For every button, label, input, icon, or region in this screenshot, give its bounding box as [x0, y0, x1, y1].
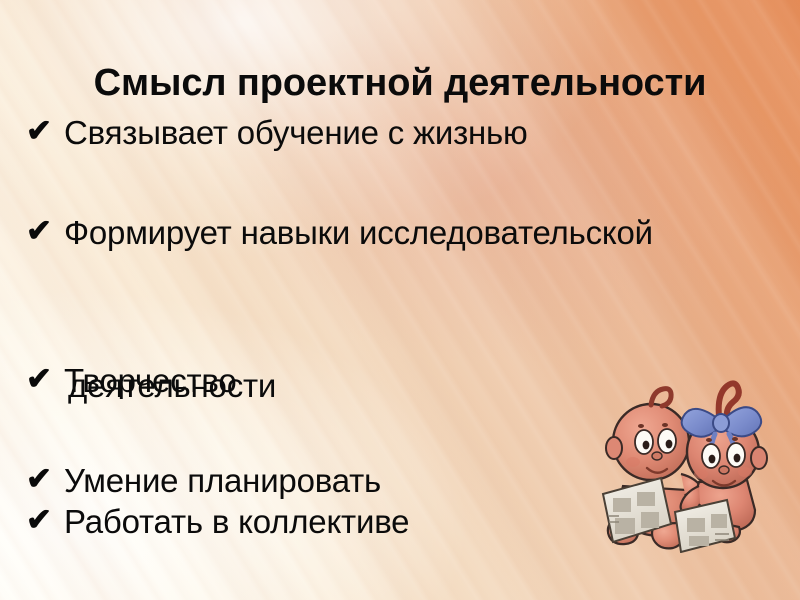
slide-title: Смысл проектной деятельности — [0, 64, 800, 104]
bullet-item-2: ✔ Формирует навыки исследовательской — [22, 212, 800, 253]
checkmark-icon: ✔ — [22, 112, 64, 150]
bullet-item-1: ✔ Связывает обучение с жизнью — [22, 112, 800, 153]
bullet-label-1: Связывает обучение с жизнью — [64, 112, 800, 153]
checkmark-icon: ✔ — [22, 460, 64, 498]
babies-reading-clipart — [595, 378, 780, 553]
slide-content: Смысл проектной деятельности ✔ Связывает… — [0, 0, 800, 600]
slide-canvas: Смысл проектной деятельности ✔ Связывает… — [0, 0, 800, 600]
checkmark-icon: ✔ — [22, 212, 64, 250]
checkmark-icon: ✔ — [22, 360, 64, 398]
bullet-label-2: Формирует навыки исследовательской — [64, 212, 800, 253]
checkmark-icon: ✔ — [22, 501, 64, 539]
